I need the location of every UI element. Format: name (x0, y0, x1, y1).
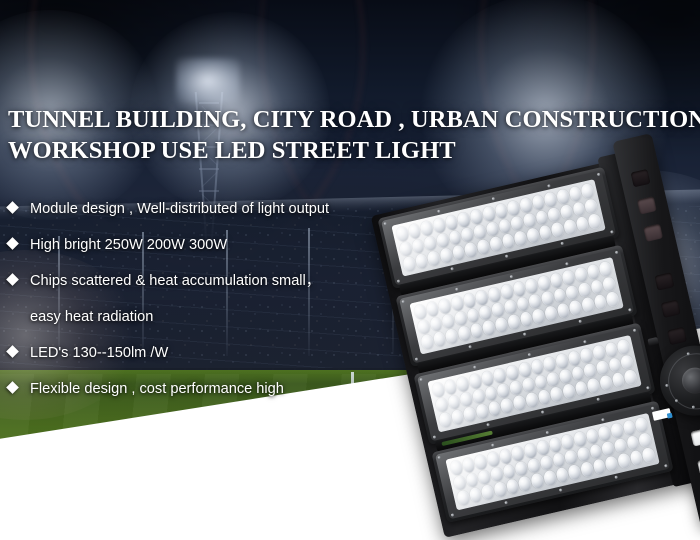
led-lens (528, 293, 543, 310)
led-lens (634, 417, 649, 434)
led-lens (580, 183, 595, 200)
led-lens (641, 447, 656, 464)
led-lens (500, 283, 515, 300)
led-lens (584, 198, 599, 215)
led-lens (539, 455, 554, 472)
led-lens (574, 266, 589, 283)
led-lens (454, 310, 469, 327)
led-lens (457, 325, 472, 342)
led-lens (521, 377, 536, 394)
led-lens (491, 302, 506, 319)
led-lens (617, 453, 632, 470)
led-lens (463, 406, 478, 423)
led-lens (531, 308, 546, 325)
led-lens (533, 374, 548, 391)
stadium-lamp-panel (176, 58, 240, 104)
led-lens (485, 221, 500, 238)
diamond-bullet-icon (6, 345, 19, 358)
led-lens (610, 422, 625, 439)
led-lens (542, 356, 557, 373)
led-lens (489, 236, 504, 253)
led-lens (543, 470, 558, 487)
led-lens (576, 446, 591, 463)
led-lens (563, 219, 578, 236)
led-lens (573, 431, 588, 448)
led-lens (486, 451, 501, 468)
led-lens (513, 230, 528, 247)
led-lens (525, 392, 540, 409)
led-lens (544, 305, 559, 322)
led-lens (456, 376, 471, 393)
led-lens (490, 466, 505, 483)
feature-text: easy heat radiation (30, 309, 153, 325)
led-lens (577, 282, 592, 299)
led-lens (519, 197, 534, 214)
list-item: Module design , Well-distributed of ligh… (8, 200, 428, 236)
list-item: LED's 130--150lm /W (8, 344, 428, 380)
led-lens (476, 239, 491, 256)
led-lens (559, 204, 574, 221)
led-lens (526, 227, 541, 244)
feature-text: LED's 130--150lm /W (30, 345, 168, 361)
led-lens (546, 371, 561, 388)
led-lens (468, 373, 483, 390)
led-lens (493, 481, 508, 498)
led-lens (616, 339, 631, 356)
led-lens (623, 369, 638, 386)
led-lens (613, 438, 628, 455)
diamond-bullet-icon (6, 237, 19, 250)
led-lens (494, 317, 509, 334)
led-lens (540, 290, 555, 307)
led-lens (580, 461, 595, 478)
led-lens (550, 222, 565, 239)
led-lens (505, 364, 520, 381)
feature-text: Module design , Well-distributed of ligh… (30, 201, 329, 217)
led-lens (507, 314, 522, 331)
list-item-continuation: easy heat radiation (8, 308, 428, 344)
led-lens (496, 382, 511, 399)
led-lens (497, 218, 512, 235)
led-lens (527, 457, 542, 474)
led-lens (583, 362, 598, 379)
list-item: Chips scattered & heat accumulation smal… (8, 272, 428, 308)
feature-text: Flexible design , cost performance high (30, 381, 284, 397)
page-title: TUNNEL BUILDING, CITY ROAD , URBAN CONST… (8, 104, 698, 166)
led-lens (506, 200, 521, 217)
led-lens (556, 188, 571, 205)
led-lens (567, 464, 582, 481)
led-lens (560, 434, 575, 451)
feature-list: Module design , Well-distributed of ligh… (8, 200, 428, 416)
led-lens (522, 212, 537, 229)
led-lens (518, 361, 533, 378)
led-lens (558, 368, 573, 385)
diamond-bullet-icon (6, 201, 19, 214)
product-image-led-flood-light (382, 160, 700, 540)
led-lens (482, 206, 497, 223)
led-lens (555, 353, 570, 370)
led-lens (475, 403, 490, 420)
led-lens (602, 276, 617, 293)
led-lens (605, 291, 620, 308)
led-lens (456, 490, 471, 507)
led-lens (475, 289, 490, 306)
led-lens (514, 460, 529, 477)
led-lens (450, 295, 465, 312)
led-lens (604, 456, 619, 473)
led-lens (472, 388, 487, 405)
led-lens (561, 269, 576, 286)
led-lens (579, 347, 594, 364)
led-lens (564, 449, 579, 466)
led-lens (453, 475, 468, 492)
led-lens (595, 360, 610, 377)
led-lens (597, 425, 612, 442)
feature-text: Chips scattered & heat accumulation smal… (30, 273, 320, 289)
led-lens (581, 297, 596, 314)
diamond-bullet-icon (6, 273, 19, 286)
led-lens (524, 278, 539, 295)
led-lens (460, 226, 475, 243)
headline-line-1: TUNNEL BUILDING, CITY ROAD , URBAN CONST… (8, 106, 700, 133)
led-lens (438, 412, 453, 429)
product-banner: TUNNEL BUILDING, CITY ROAD , URBAN CONST… (0, 0, 700, 540)
led-lens (438, 298, 453, 315)
led-lens (431, 381, 446, 398)
led-lens (562, 383, 577, 400)
led-lens (620, 354, 635, 371)
led-lens (469, 208, 484, 225)
led-lens (511, 445, 526, 462)
led-lens (473, 224, 488, 241)
led-lens (536, 439, 551, 456)
led-lens (481, 484, 496, 501)
led-lens (512, 395, 527, 412)
led-lens (548, 437, 563, 454)
led-lens (474, 454, 489, 471)
led-lens (638, 432, 653, 449)
led-lens (478, 304, 493, 321)
led-lens (503, 299, 518, 316)
led-lens (547, 207, 562, 224)
led-lens (432, 217, 447, 234)
led-lens (493, 367, 508, 384)
led-lens (599, 375, 614, 392)
led-lens (549, 386, 564, 403)
led-lens (487, 286, 502, 303)
list-item: Flexible design , cost performance high (8, 380, 428, 416)
headline-line-2: WORKSHOP USE LED STREET LIGHT (8, 135, 698, 166)
led-lens (598, 261, 613, 278)
led-lens (565, 284, 580, 301)
led-lens (512, 281, 527, 298)
led-lens (436, 232, 451, 249)
led-lens (457, 211, 472, 228)
led-lens (523, 442, 538, 459)
led-lens (592, 344, 607, 361)
led-lens (494, 203, 509, 220)
diamond-bullet-icon (6, 381, 19, 394)
led-lens (435, 397, 450, 414)
led-lens (515, 296, 530, 313)
led-lens (449, 459, 464, 476)
led-lens (509, 380, 524, 397)
led-lens (587, 213, 602, 230)
list-item: High bright 250W 200W 300W (8, 236, 428, 272)
led-lens (477, 469, 492, 486)
feature-text: High bright 250W 200W 300W (30, 237, 227, 253)
led-lens (459, 391, 474, 408)
led-lens (439, 247, 454, 264)
led-lens (543, 191, 558, 208)
led-lens (530, 473, 545, 490)
led-lens (530, 359, 545, 376)
led-lens (568, 300, 583, 317)
led-lens (427, 250, 442, 267)
led-lens (551, 452, 566, 469)
led-lens (510, 215, 525, 232)
led-lens (537, 275, 552, 292)
led-lens (441, 313, 456, 330)
led-lens (586, 378, 601, 395)
led-lens (601, 440, 616, 457)
